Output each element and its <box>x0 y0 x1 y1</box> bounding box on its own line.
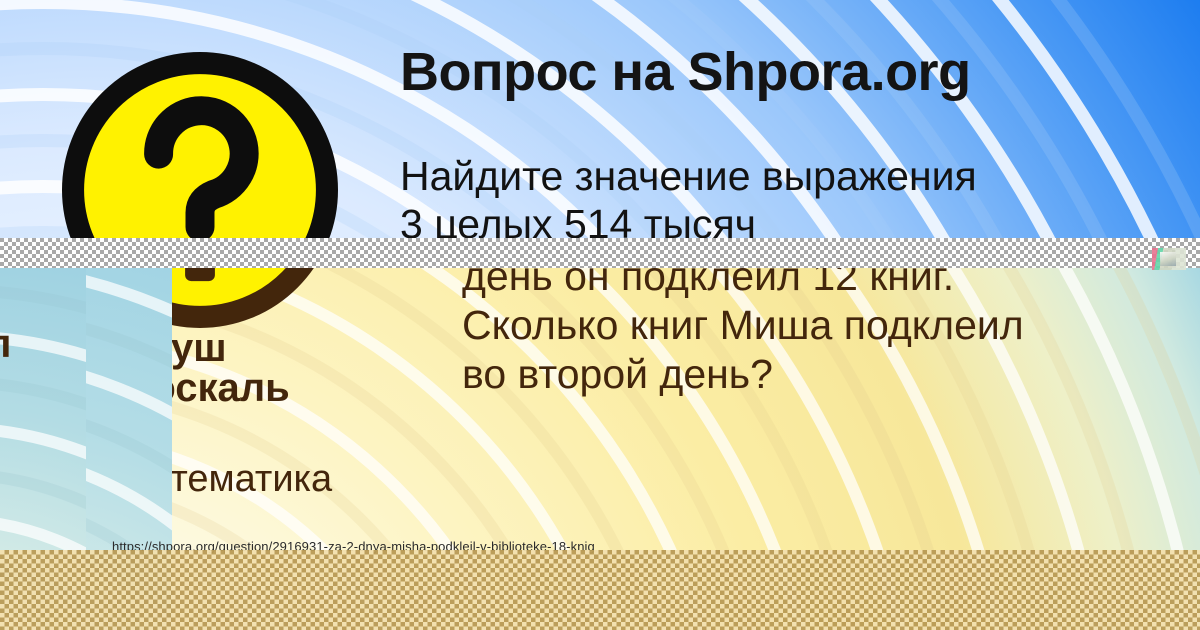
share-card-canvas: Вопрос на Shpora.org Найдите значение вы… <box>0 0 1200 630</box>
dotted-tan-band <box>0 550 1200 630</box>
bottom-question-line-3: во второй день? <box>462 350 1200 399</box>
edge-text-fragment: л <box>0 324 11 364</box>
checkered-gray-band <box>0 238 1200 268</box>
bottom-question-line-2: Сколько книг Миша подклеил <box>462 301 1200 350</box>
top-question-text: Найдите значение выражения 3 целых 514 т… <box>400 152 1190 249</box>
bottom-question-line-1: день он подклеил 12 книг. <box>462 268 1200 301</box>
top-question-line-1: Найдите значение выражения <box>400 152 1190 200</box>
card-title: Вопрос на Shpora.org <box>400 44 971 101</box>
bottom-question-text: день он подклеил 12 книг. Сколько книг М… <box>462 268 1200 398</box>
pixel-artifact-highlight <box>1160 252 1176 266</box>
